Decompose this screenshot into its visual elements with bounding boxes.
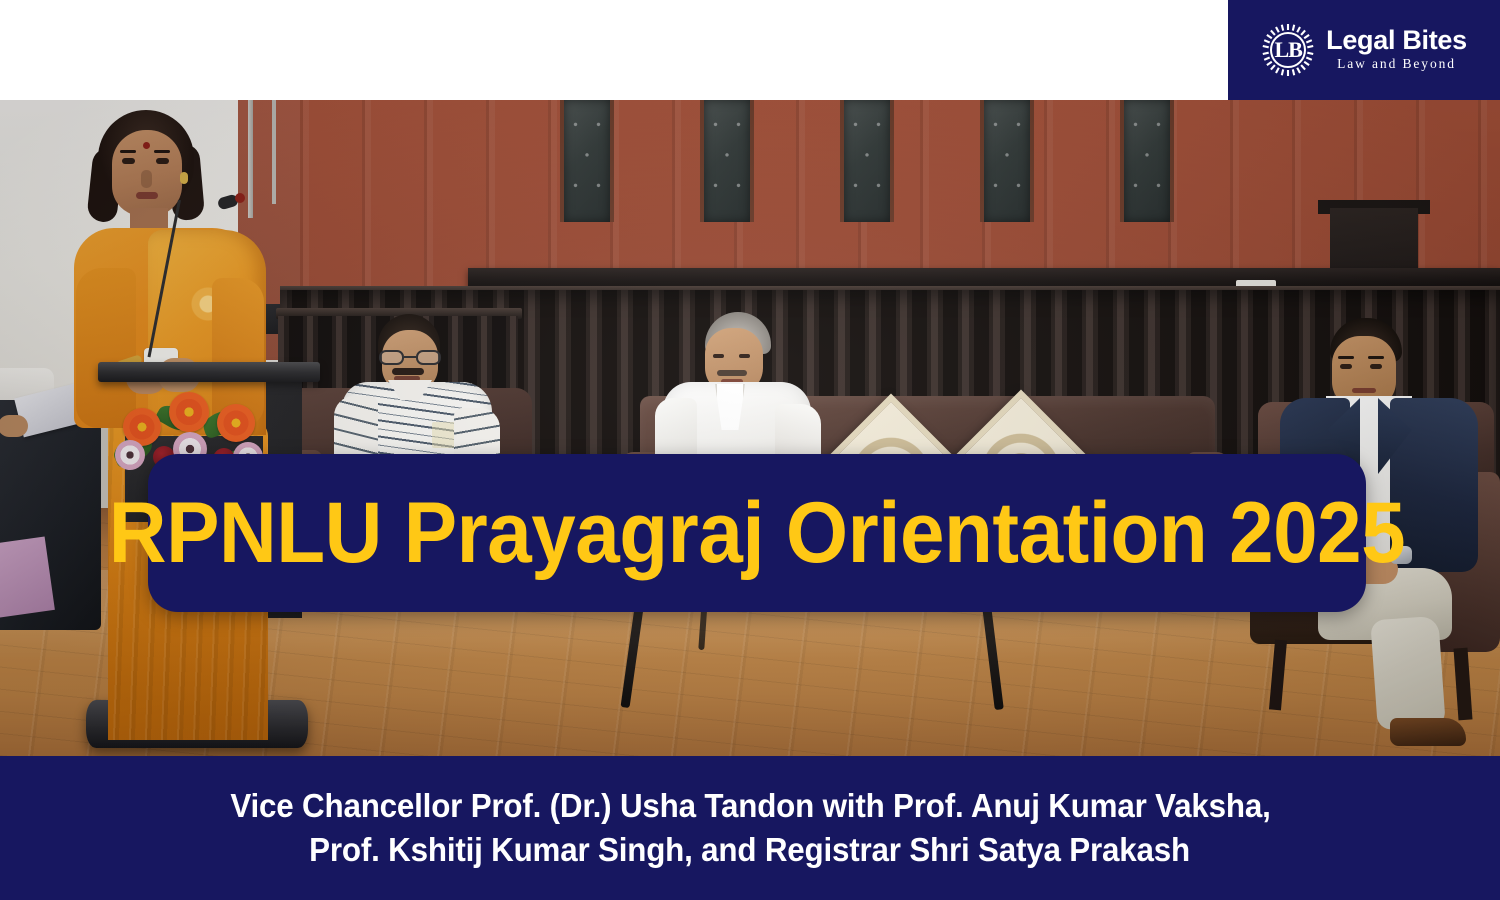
daisy-flower [115,440,145,470]
caption-line-2: Prof. Kshitij Kumar Singh, and Registrar… [310,831,1191,869]
eyeglasses-icon [377,350,443,365]
partial-attendee-hand [0,415,28,437]
caption-line-1: Vice Chancellor Prof. (Dr.) Usha Tandon … [230,787,1270,825]
title-banner: RPNLU Prayagraj Orientation 2025 [148,454,1366,612]
tufted-leather-panel [1120,100,1174,222]
moustache [717,370,747,376]
caption-bar: Vice Chancellor Prof. (Dr.) Usha Tandon … [0,756,1500,900]
eye [739,354,750,358]
brand-name: Legal Bites [1326,27,1467,55]
legal-bites-circular-lb-emblem-icon: LB [1261,23,1315,77]
eye [156,158,169,164]
brand-wordmark: Legal Bites Law and Beyond [1326,27,1467,73]
tufted-leather-panel [700,100,754,222]
tufted-leather-panel [840,100,894,222]
eye [122,158,135,164]
emblem-monogram: LB [1261,23,1315,77]
microphone-windscreen [235,193,245,203]
brand-tagline: Law and Beyond [1337,55,1456,73]
mouth [136,192,158,199]
gerbera-flower [169,392,209,432]
bindi [143,142,150,149]
mouth [1352,388,1376,393]
eyebrow [1338,356,1354,359]
earring [180,172,188,184]
eye [713,354,724,358]
eye [1340,364,1352,369]
eye [1370,364,1382,369]
screenshot-root: LB Legal Bites Law and Beyond [0,0,1500,900]
nose [141,170,152,188]
legal-bites-brand-box[interactable]: LB Legal Bites Law and Beyond [1228,0,1500,100]
brown-shoe [1390,718,1466,746]
eyebrow [120,150,136,153]
event-photograph [0,100,1500,756]
gerbera-flower [217,404,255,442]
eyebrow [154,150,170,153]
podium-lectern-top [98,362,320,382]
tufted-leather-panel [560,100,614,222]
cream-trousers-shin [1370,616,1446,730]
tufted-leather-panel [980,100,1034,222]
page-title: RPNLU Prayagraj Orientation 2025 [109,490,1405,576]
eyebrow [1368,356,1384,359]
moustache [392,368,424,375]
